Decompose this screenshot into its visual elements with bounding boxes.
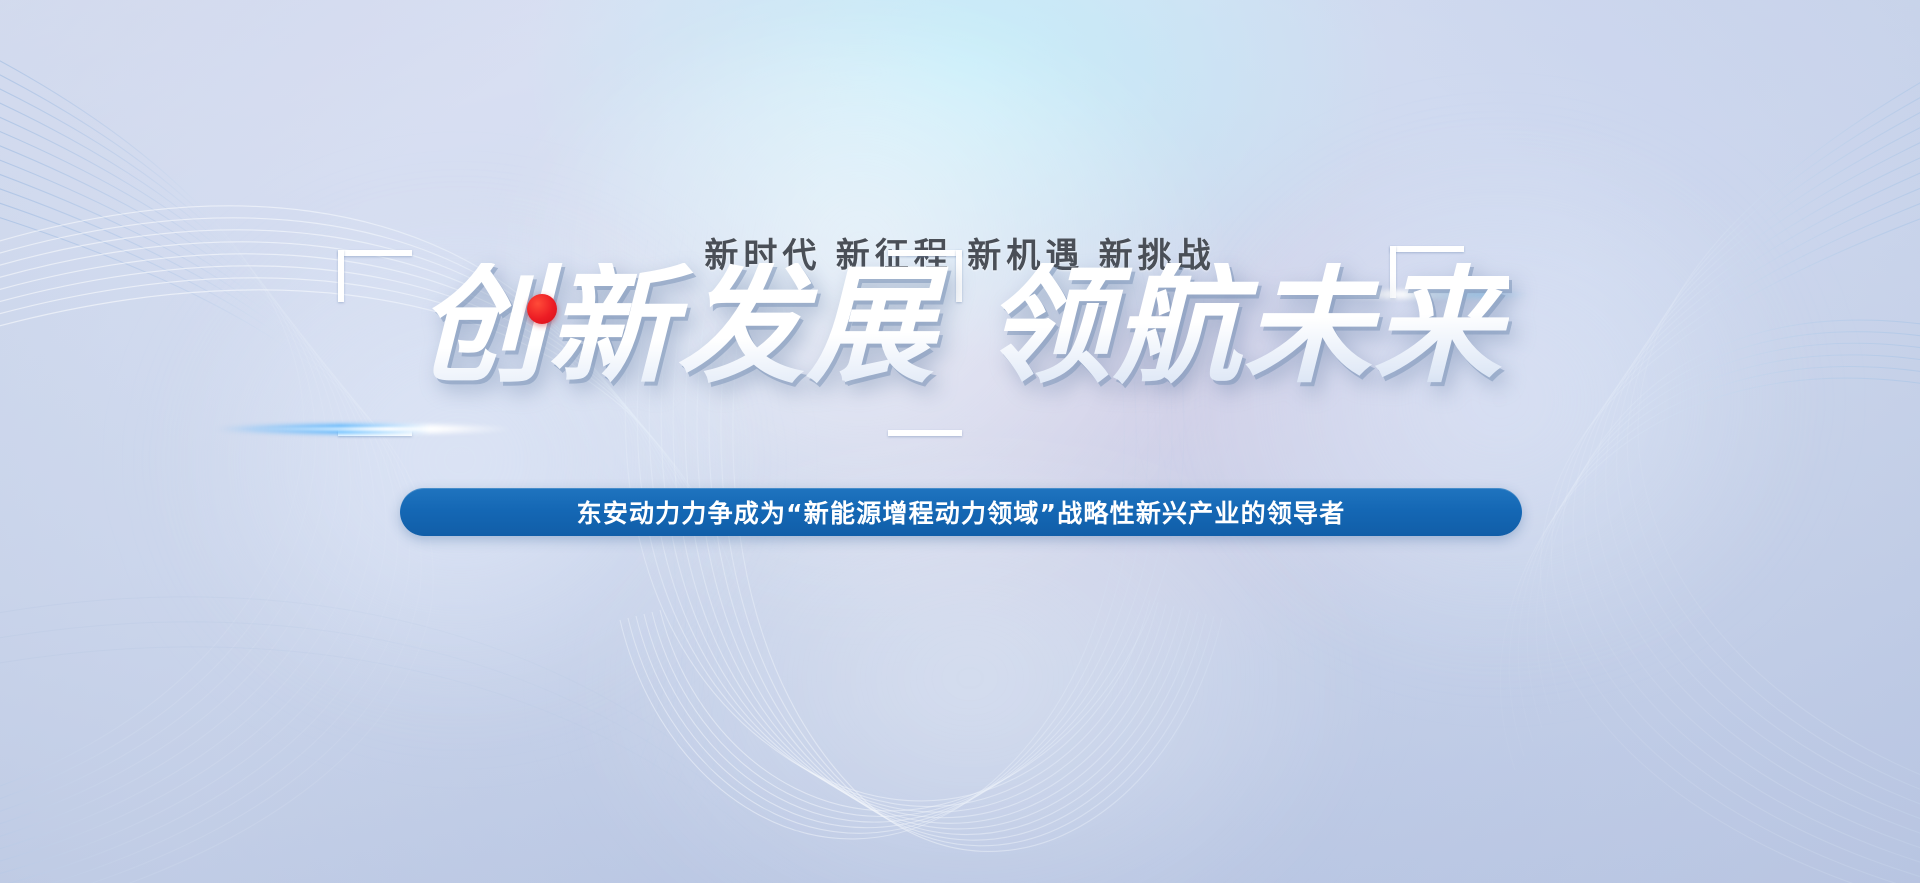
corner-bracket-bottom-left-icon <box>338 430 412 436</box>
light-streak-left-core-icon <box>250 427 480 431</box>
slogan-pill-label: 东安动力力争成为“新能源增程动力领域”战略性新兴产业的领导者 <box>577 494 1346 530</box>
slogan-pill: 东安动力力争成为“新能源增程动力领域”战略性新兴产业的领导者 <box>400 488 1522 536</box>
corner-bracket-bottom-right-icon <box>888 430 962 436</box>
light-streak-left-icon <box>215 424 515 434</box>
promo-banner: 新时代 新征程 新机遇 新挑战 创新发展 领航未来 东安动力力争成为“新能源增程… <box>0 0 1920 883</box>
red-dot-accent-icon <box>527 294 557 324</box>
banner-headline: 创新发展 领航未来 <box>411 263 1510 391</box>
headline-container: 创新发展 领航未来 <box>0 252 1920 402</box>
banner-content: 新时代 新征程 新机遇 新挑战 创新发展 领航未来 东安动力力争成为“新能源增程… <box>0 0 1920 883</box>
